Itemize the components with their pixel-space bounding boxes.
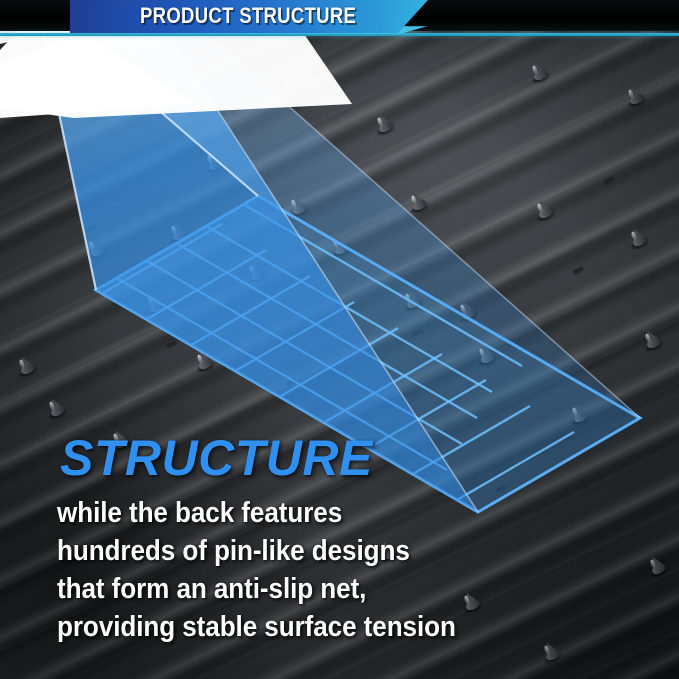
body-copy: while the back features hundreds of pin-… <box>57 494 497 646</box>
body-line-3: that form an anti-slip net, <box>57 570 453 608</box>
product-structure-banner-image: PRODUCT STRUCTURE STRUCTURE while the ba… <box>0 0 679 679</box>
body-line-4: providing stable surface tension <box>57 608 453 646</box>
body-line-2: hundreds of pin-like designs <box>57 532 453 570</box>
body-line-1: while the back features <box>57 494 453 532</box>
page-headline: STRUCTURE <box>60 432 373 484</box>
banner-title: PRODUCT STRUCTURE <box>140 3 375 29</box>
